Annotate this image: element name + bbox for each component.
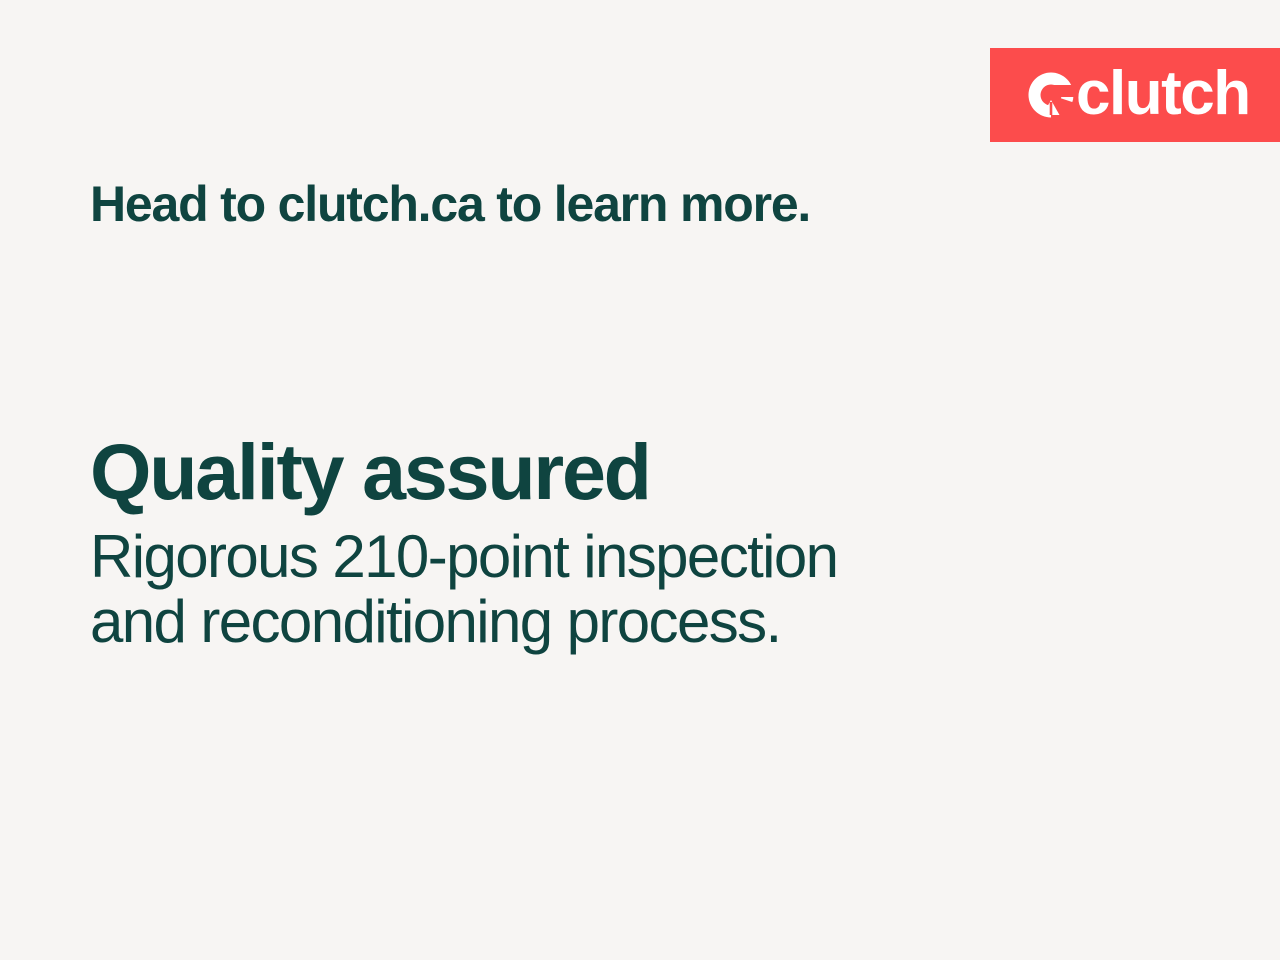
brand-wordmark: clutch <box>1076 63 1250 125</box>
subhead: Rigorous 210-point inspection and recond… <box>90 525 1090 655</box>
headline-group: Quality assured Rigorous 210-point inspe… <box>90 432 1090 655</box>
subhead-line-2: and reconditioning process. <box>90 590 1090 655</box>
clutch-c-mark-icon <box>1028 71 1074 119</box>
marketing-slide: clutch Head to clutch.ca to learn more. … <box>0 0 1280 960</box>
subhead-line-1: Rigorous 210-point inspection <box>90 525 1090 590</box>
eyebrow-text: Head to clutch.ca to learn more. <box>90 178 810 231</box>
clutch-logo[interactable]: clutch <box>1028 64 1250 126</box>
brand-banner: clutch <box>990 48 1280 142</box>
page-title: Quality assured <box>90 432 1090 511</box>
